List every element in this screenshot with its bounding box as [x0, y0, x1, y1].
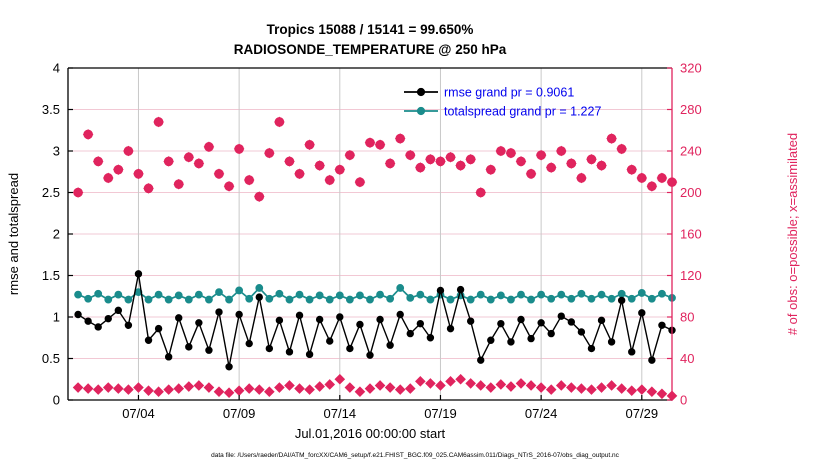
rmse-point	[266, 345, 272, 351]
rmse-point	[206, 347, 212, 353]
rmse-point	[397, 311, 403, 317]
totalspread-point	[195, 291, 202, 298]
rmse-point	[186, 344, 192, 350]
rmse-point	[538, 320, 544, 326]
rmse-point	[347, 345, 353, 351]
legend-label: totalspread grand pr = 1.227	[444, 105, 601, 119]
totalspread-point	[125, 296, 132, 303]
totalspread-point	[578, 290, 585, 297]
y2-tick-label: 120	[680, 268, 702, 283]
totalspread-point	[548, 295, 555, 302]
y2-tick-label: 320	[680, 61, 702, 76]
title-line-1: Tropics 15088 / 15141 = 99.650%	[267, 22, 474, 37]
rmse-point	[196, 320, 202, 326]
totalspread-point	[306, 296, 313, 303]
rmse-point	[578, 329, 584, 335]
rmse-point	[95, 324, 101, 330]
rmse-point	[437, 287, 443, 293]
y-tick-label: 0	[53, 393, 60, 408]
totalspread-point	[497, 292, 504, 299]
rmse-point	[427, 335, 433, 341]
rmse-point	[467, 318, 473, 324]
y-axis-label: rmse and totalspread	[6, 173, 21, 295]
totalspread-point	[155, 291, 162, 298]
rmse-point	[306, 351, 312, 357]
totalspread-point	[638, 290, 645, 297]
totalspread-point	[648, 295, 655, 302]
totalspread-point	[145, 296, 152, 303]
rmse-point	[296, 312, 302, 318]
rmse-point	[407, 330, 413, 336]
rmse-point	[226, 364, 232, 370]
totalspread-point	[417, 291, 424, 298]
totalspread-point	[357, 292, 364, 299]
totalspread-point	[256, 285, 263, 292]
rmse-point	[478, 357, 484, 363]
data-file-path: data file: /Users/raeder/DAI/ATM_forcXX/…	[211, 452, 620, 459]
chart-title: Tropics 15088 / 15141 = 99.650%RADIOSOND…	[234, 22, 507, 57]
x-tick-label: 07/04	[122, 406, 155, 421]
rmse-point	[236, 311, 242, 317]
rmse-point	[155, 325, 161, 331]
totalspread-point	[236, 287, 243, 294]
totalspread-point	[628, 295, 635, 302]
totalspread-point	[558, 291, 565, 298]
totalspread-point	[336, 292, 343, 299]
x-tick-label: 07/24	[525, 406, 558, 421]
y2-tick-label: 240	[680, 144, 702, 159]
y2-tick-label: 280	[680, 102, 702, 117]
rmse-point	[115, 307, 121, 313]
rmse-point	[417, 320, 423, 326]
chart-figure: 00.511.522.533.54rmse and totalspread040…	[0, 0, 830, 470]
totalspread-point	[115, 291, 122, 298]
totalspread-point	[165, 296, 172, 303]
rmse-point	[75, 311, 81, 317]
rmse-point	[216, 309, 222, 315]
y-axis-right: 04080120160200240280320# of obs: o=possi…	[667, 61, 800, 408]
rmse-point	[327, 338, 333, 344]
totalspread-point	[206, 296, 213, 303]
rmse-point	[457, 286, 463, 292]
x-axis-label: Jul.01,2016 00:00:00 start	[295, 426, 446, 441]
rmse-point	[85, 318, 91, 324]
rmse-point	[659, 322, 665, 328]
totalspread-point	[397, 285, 404, 292]
totalspread-point	[85, 295, 92, 302]
totalspread-point	[518, 291, 525, 298]
y-tick-label: 3	[53, 144, 60, 159]
rmse-point	[508, 339, 514, 345]
rmse-point	[608, 339, 614, 345]
rmse-point	[367, 352, 373, 358]
rmse-point	[528, 335, 534, 341]
totalspread-point	[528, 296, 535, 303]
rmse-point	[598, 317, 604, 323]
y2-tick-label: 80	[680, 310, 694, 325]
rmse-point	[488, 337, 494, 343]
rmse-point	[176, 315, 182, 321]
rmse-point	[629, 349, 635, 355]
rmse-point	[518, 316, 524, 322]
y2-tick-label: 0	[680, 393, 687, 408]
legend-marker	[417, 88, 424, 95]
rmse-point	[568, 319, 574, 325]
y-tick-label: 3.5	[42, 102, 60, 117]
rmse-point	[498, 320, 504, 326]
totalspread-point	[608, 295, 615, 302]
y-tick-label: 4	[53, 61, 60, 76]
y-axis-left: 00.511.522.533.54rmse and totalspread	[6, 61, 73, 408]
x-axis: 07/0407/0907/1407/1907/2407/29Jul.01,201…	[122, 395, 658, 441]
rmse-point	[135, 271, 141, 277]
x-tick-label: 07/14	[324, 406, 357, 421]
y2-tick-label: 200	[680, 185, 702, 200]
y-tick-label: 1.5	[42, 268, 60, 283]
title-line-2: RADIOSONDE_TEMPERATURE @ 250 hPa	[234, 42, 507, 57]
totalspread-point	[588, 295, 595, 302]
totalspread-point	[367, 296, 374, 303]
y2-tick-label: 40	[680, 351, 694, 366]
rmse-point	[387, 342, 393, 348]
totalspread-point	[598, 291, 605, 298]
legend-marker	[417, 107, 424, 114]
y-tick-label: 2	[53, 227, 60, 242]
totalspread-point	[487, 296, 494, 303]
totalspread-point	[95, 290, 102, 297]
rmse-point	[649, 357, 655, 363]
y-tick-label: 1	[53, 310, 60, 325]
rmse-point	[286, 349, 292, 355]
rmse-point	[246, 340, 252, 346]
totalspread-point	[216, 289, 223, 296]
rmse-point	[588, 345, 594, 351]
totalspread-point	[538, 291, 545, 298]
rmse-point	[618, 297, 624, 303]
x-tick-label: 07/09	[223, 406, 256, 421]
totalspread-point	[175, 292, 182, 299]
totalspread-point	[568, 295, 575, 302]
rmse-point	[105, 315, 111, 321]
y-tick-label: 2.5	[42, 185, 60, 200]
y2-tick-label: 160	[680, 227, 702, 242]
totalspread-point	[659, 290, 666, 297]
totalspread-point	[346, 296, 353, 303]
rmse-point	[276, 317, 282, 323]
y-tick-label: 0.5	[42, 351, 60, 366]
totalspread-point	[508, 296, 515, 303]
totalspread-point	[185, 296, 192, 303]
rmse-point	[639, 310, 645, 316]
rmse-point	[337, 314, 343, 320]
totalspread-point	[407, 295, 414, 302]
rmse-point	[357, 321, 363, 327]
rmse-point	[165, 354, 171, 360]
totalspread-point	[286, 296, 293, 303]
totalspread-point	[296, 291, 303, 298]
x-tick-label: 07/29	[626, 406, 659, 421]
totalspread-point	[266, 295, 273, 302]
footer-note: data file: /Users/raeder/DAI/ATM_forcXX/…	[211, 452, 620, 459]
rmse-point	[377, 316, 383, 322]
rmse-point	[125, 322, 131, 328]
rmse-point	[256, 294, 262, 300]
y2-axis-label: # of obs: o=possible; x=assimilated	[785, 133, 800, 335]
totalspread-point	[477, 291, 484, 298]
rmse-point	[316, 316, 322, 322]
totalspread-point	[316, 292, 323, 299]
totalspread-point	[387, 295, 394, 302]
totalspread-point	[105, 296, 112, 303]
x-tick-label: 07/19	[424, 406, 457, 421]
totalspread-point	[427, 296, 434, 303]
totalspread-point	[75, 291, 82, 298]
rmse-point	[145, 337, 151, 343]
rmse-point	[558, 313, 564, 319]
rmse-point	[447, 325, 453, 331]
totalspread-point	[326, 296, 333, 303]
legend-label: rmse grand pr = 0.9061	[444, 86, 574, 100]
totalspread-point	[226, 296, 233, 303]
totalspread-point	[467, 296, 474, 303]
rmse-point	[548, 330, 554, 336]
totalspread-point	[377, 291, 384, 298]
totalspread-point	[618, 290, 625, 297]
totalspread-point	[276, 290, 283, 297]
totalspread-point	[447, 296, 454, 303]
totalspread-point	[246, 295, 253, 302]
